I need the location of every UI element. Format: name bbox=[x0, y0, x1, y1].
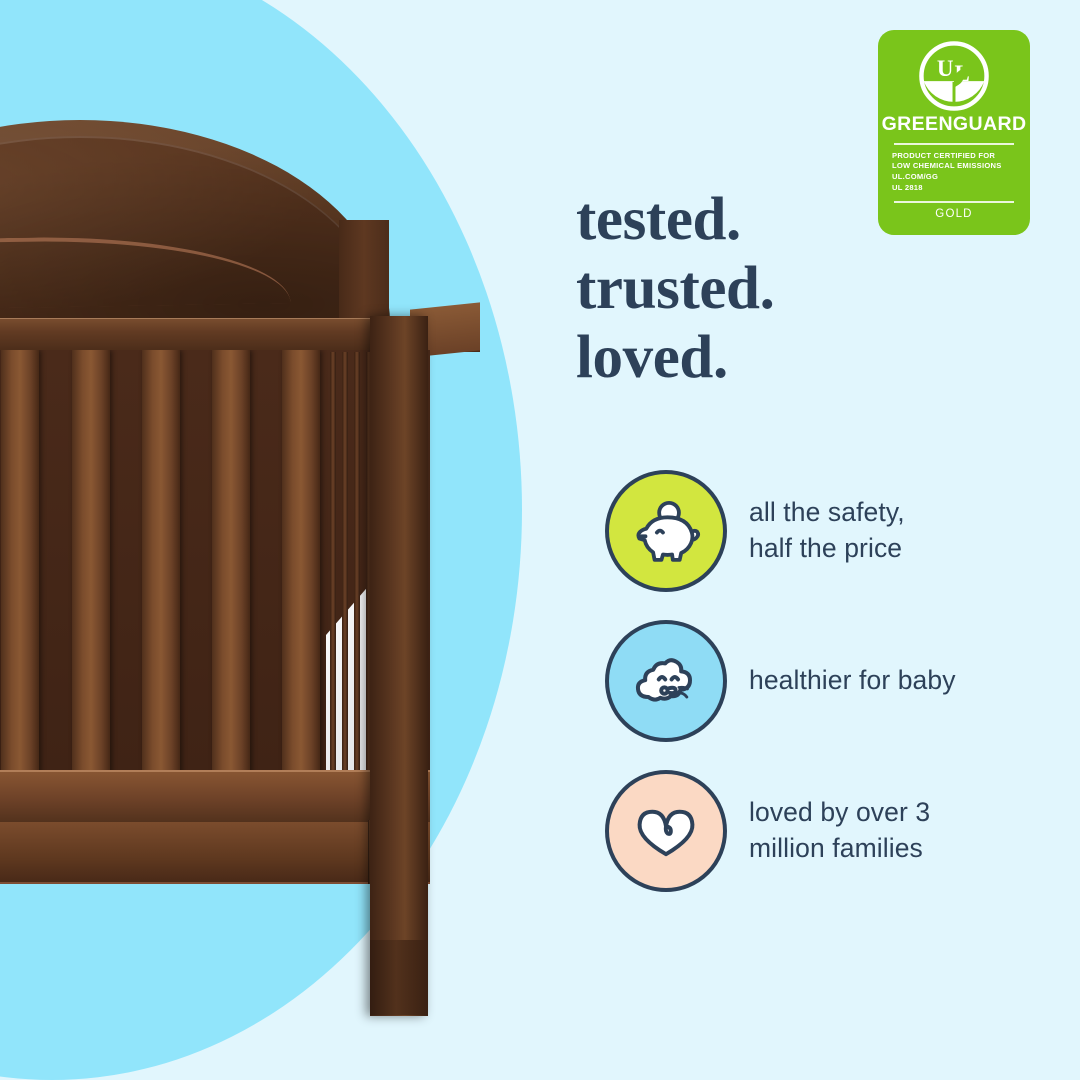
crib-slat bbox=[142, 350, 180, 770]
ad-canvas: U L GREENGUARD PRODUCT CERTIFIED FOR LOW… bbox=[0, 0, 1080, 1080]
feature-text-healthier: healthier for baby bbox=[749, 663, 956, 699]
convertible-crib-photo bbox=[0, 120, 480, 950]
feature-line-1: healthier for baby bbox=[749, 663, 956, 699]
greenguard-certification-lines: PRODUCT CERTIFIED FOR LOW CHEMICAL EMISS… bbox=[892, 151, 1030, 194]
feature-text-loved: loved by over 3 million families bbox=[749, 795, 930, 867]
ul-leaf-icon: U L bbox=[917, 39, 991, 113]
greenguard-badge: U L GREENGUARD PRODUCT CERTIFIED FOR LOW… bbox=[878, 30, 1030, 235]
svg-text:U: U bbox=[937, 56, 954, 81]
feature-item-loved: loved by over 3 million families bbox=[605, 770, 1025, 892]
badge-line-4: UL 2818 bbox=[892, 183, 1030, 194]
crib-slat bbox=[212, 350, 250, 770]
crib-far-slat bbox=[330, 352, 336, 772]
smiling-cloud-icon bbox=[605, 620, 727, 742]
crib-corner-post bbox=[370, 316, 428, 1016]
crib-corner-post-foot bbox=[370, 940, 428, 1015]
feature-line-2: million families bbox=[749, 831, 930, 867]
badge-line-1: PRODUCT CERTIFIED FOR bbox=[892, 151, 1030, 162]
crib-far-slat bbox=[354, 352, 360, 772]
headline-line-1: tested. bbox=[576, 186, 774, 255]
piggy-bank-icon bbox=[605, 470, 727, 592]
feature-line-1: all the safety, bbox=[749, 495, 905, 531]
feature-item-safety-price: all the safety, half the price bbox=[605, 470, 1025, 592]
feature-text-safety-price: all the safety, half the price bbox=[749, 495, 905, 567]
feature-line-1: loved by over 3 bbox=[749, 795, 930, 831]
greenguard-title: GREENGUARD bbox=[878, 115, 1030, 135]
crib-lower-rail-upper bbox=[0, 770, 430, 822]
feature-list: all the safety, half the price bbox=[605, 470, 1025, 920]
heart-icon bbox=[605, 770, 727, 892]
crib-slat bbox=[72, 350, 110, 770]
badge-line-2: LOW CHEMICAL EMISSIONS bbox=[892, 161, 1030, 172]
headline-line-3: loved. bbox=[576, 324, 774, 393]
greenguard-level: GOLD bbox=[878, 208, 1030, 220]
headline: tested. trusted. loved. bbox=[576, 186, 774, 393]
feature-line-2: half the price bbox=[749, 531, 905, 567]
crib-far-slat bbox=[342, 352, 348, 772]
badge-divider-bottom bbox=[894, 201, 1014, 203]
badge-divider-top bbox=[894, 143, 1014, 145]
feature-item-healthier: healthier for baby bbox=[605, 620, 1025, 742]
crib-slat bbox=[282, 350, 320, 770]
crib-slat bbox=[1, 350, 39, 770]
crib-lower-rail-lower bbox=[0, 822, 430, 884]
headline-line-2: trusted. bbox=[576, 255, 774, 324]
badge-line-3: UL.COM/GG bbox=[892, 172, 1030, 183]
